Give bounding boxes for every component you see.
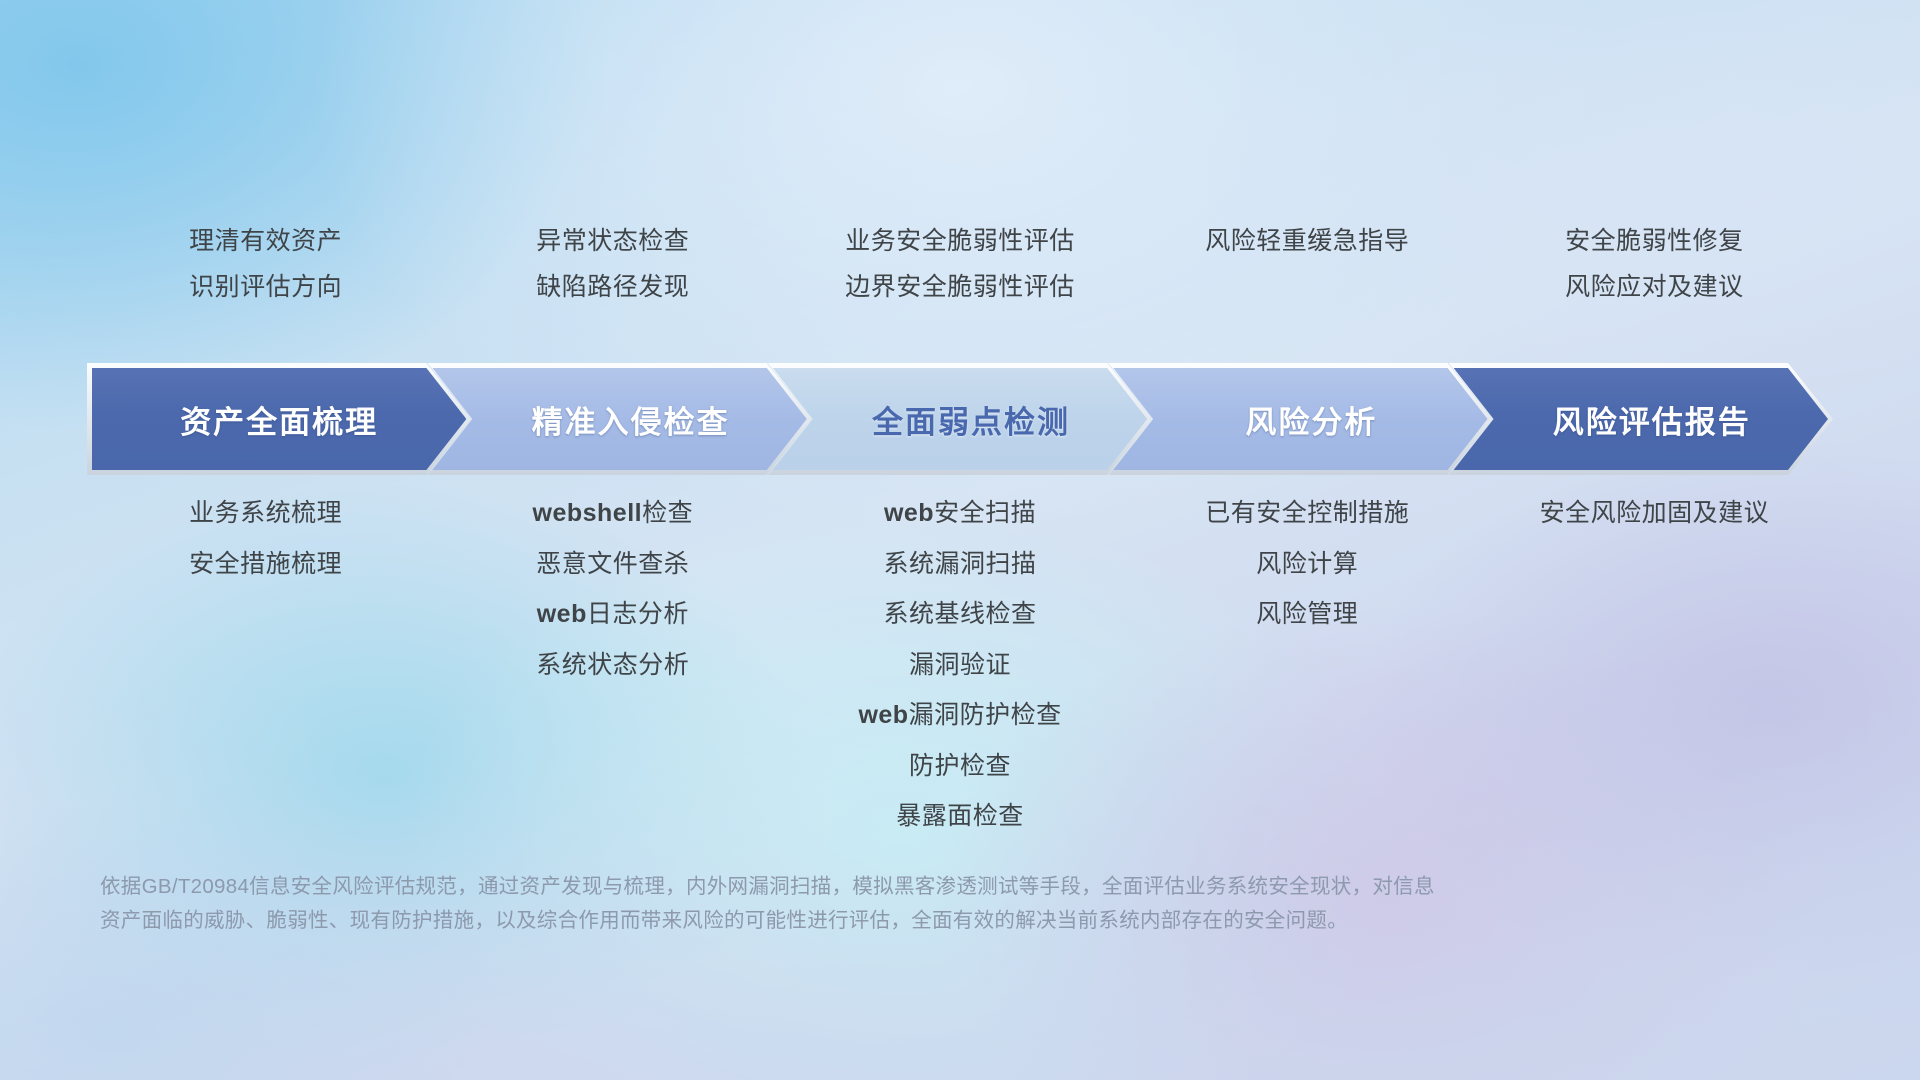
bottom-caption: 风险管理 — [1134, 601, 1481, 629]
stage-label: 精准入侵检查 — [532, 397, 730, 442]
top-caption: 理清有效资产 — [92, 228, 439, 256]
bottom-caption: web日志分析 — [439, 601, 786, 629]
top-caption-group-weakness-detection: 业务安全脆弱性评估边界安全脆弱性评估 — [786, 228, 1133, 301]
footer-description: 依据GB/T20984信息安全风险评估规范，通过资产发现与梳理，内外网漏洞扫描，… — [100, 870, 1660, 938]
bottom-caption-lead: web — [537, 600, 587, 628]
stage-chevron-asset-inventory[interactable]: 资产全面梳理 — [92, 368, 466, 470]
footer-line-1: 依据GB/T20984信息安全风险评估规范，通过资产发现与梳理，内外网漏洞扫描，… — [100, 870, 1660, 904]
top-caption: 识别评估方向 — [92, 274, 439, 302]
bottom-caption-text: 系统基线检查 — [884, 600, 1037, 628]
bottom-caption-text: 防护检查 — [909, 752, 1011, 780]
bottom-caption: web漏洞防护检查 — [786, 702, 1133, 730]
bottom-caption-group-risk-analysis: 已有安全控制措施风险计算风险管理 — [1134, 500, 1481, 629]
bottom-caption: 暴露面检查 — [786, 803, 1133, 831]
bottom-caption: 已有安全控制措施 — [1134, 500, 1481, 528]
bottom-caption-row: 业务系统梳理安全措施梳理webshell检查恶意文件查杀web日志分析系统状态分… — [92, 500, 1828, 831]
bottom-caption: 安全风险加固及建议 — [1481, 500, 1828, 528]
top-caption: 边界安全脆弱性评估 — [786, 274, 1133, 302]
top-caption: 风险应对及建议 — [1481, 274, 1828, 302]
bottom-caption: webshell检查 — [439, 500, 786, 528]
bottom-caption-text: 已有安全控制措施 — [1205, 499, 1409, 527]
bottom-caption-text: 风险管理 — [1256, 600, 1358, 628]
stage-chevron-assessment-report[interactable]: 风险评估报告 — [1454, 368, 1828, 470]
bottom-caption-text: 系统状态分析 — [536, 651, 689, 679]
bottom-caption: 系统状态分析 — [439, 652, 786, 680]
stage-label: 风险评估报告 — [1553, 397, 1751, 442]
top-caption: 业务安全脆弱性评估 — [786, 228, 1133, 256]
bottom-caption: 系统基线检查 — [786, 601, 1133, 629]
top-caption-group-intrusion-check: 异常状态检查缺陷路径发现 — [439, 228, 786, 301]
bottom-caption-lead: webshell — [533, 499, 643, 527]
bottom-caption-group-weakness-detection: web安全扫描系统漏洞扫描系统基线检查漏洞验证web漏洞防护检查防护检查暴露面检… — [786, 500, 1133, 831]
bottom-caption: 业务系统梳理 — [92, 500, 439, 528]
bottom-caption-text: 恶意文件查杀 — [536, 550, 689, 578]
bottom-caption-text: 日志分析 — [587, 600, 689, 628]
bottom-caption: 系统漏洞扫描 — [786, 551, 1133, 579]
bottom-caption-text: 暴露面检查 — [896, 802, 1024, 830]
bottom-caption-text: 安全扫描 — [934, 499, 1036, 527]
footer-line-2: 资产面临的威胁、脆弱性、现有防护措施，以及综合作用而带来风险的可能性进行评估，全… — [100, 904, 1660, 938]
stage-chevron-risk-analysis[interactable]: 风险分析 — [1113, 368, 1487, 470]
top-caption-group-asset-inventory: 理清有效资产识别评估方向 — [92, 228, 439, 301]
bottom-caption-group-intrusion-check: webshell检查恶意文件查杀web日志分析系统状态分析 — [439, 500, 786, 679]
top-caption: 安全脆弱性修复 — [1481, 228, 1828, 256]
bottom-caption-text: 业务系统梳理 — [189, 499, 342, 527]
stage-label: 风险分析 — [1245, 397, 1377, 442]
bottom-caption-text: 安全措施梳理 — [189, 550, 342, 578]
bottom-caption: 漏洞验证 — [786, 652, 1133, 680]
bottom-caption-lead: web — [858, 701, 908, 729]
stage-label: 全面弱点检测 — [872, 397, 1070, 442]
bottom-caption-text: 风险计算 — [1256, 550, 1358, 578]
bottom-caption-group-assessment-report: 安全风险加固及建议 — [1481, 500, 1828, 528]
bottom-caption-text: 检查 — [642, 499, 693, 527]
top-caption-group-assessment-report: 安全脆弱性修复风险应对及建议 — [1481, 228, 1828, 301]
bottom-caption-text: 安全风险加固及建议 — [1540, 499, 1770, 527]
bottom-caption: 风险计算 — [1134, 551, 1481, 579]
bottom-caption-text: 系统漏洞扫描 — [884, 550, 1037, 578]
top-caption: 异常状态检查 — [439, 228, 786, 256]
bottom-caption-text: 漏洞防护检查 — [909, 701, 1062, 729]
top-caption-row: 理清有效资产识别评估方向异常状态检查缺陷路径发现业务安全脆弱性评估边界安全脆弱性… — [92, 228, 1828, 301]
process-diagram: 理清有效资产识别评估方向异常状态检查缺陷路径发现业务安全脆弱性评估边界安全脆弱性… — [0, 0, 1920, 1080]
bottom-caption: 安全措施梳理 — [92, 551, 439, 579]
bottom-caption: web安全扫描 — [786, 500, 1133, 528]
bottom-caption-lead: web — [884, 499, 934, 527]
bottom-caption-group-asset-inventory: 业务系统梳理安全措施梳理 — [92, 500, 439, 578]
top-caption-group-risk-analysis: 风险轻重缓急指导 — [1134, 228, 1481, 301]
stage-label: 资产全面梳理 — [180, 397, 378, 442]
bottom-caption: 恶意文件查杀 — [439, 551, 786, 579]
top-caption: 风险轻重缓急指导 — [1134, 228, 1481, 256]
bottom-caption: 防护检查 — [786, 753, 1133, 781]
top-caption: 缺陷路径发现 — [439, 274, 786, 302]
stage-chevron-band: 资产全面梳理精准入侵检查全面弱点检测风险分析风险评估报告 — [92, 368, 1828, 470]
bottom-caption-text: 漏洞验证 — [909, 651, 1011, 679]
stage-chevron-weakness-detection[interactable]: 全面弱点检测 — [773, 368, 1147, 470]
stage-chevron-intrusion-check[interactable]: 精准入侵检查 — [432, 368, 806, 470]
